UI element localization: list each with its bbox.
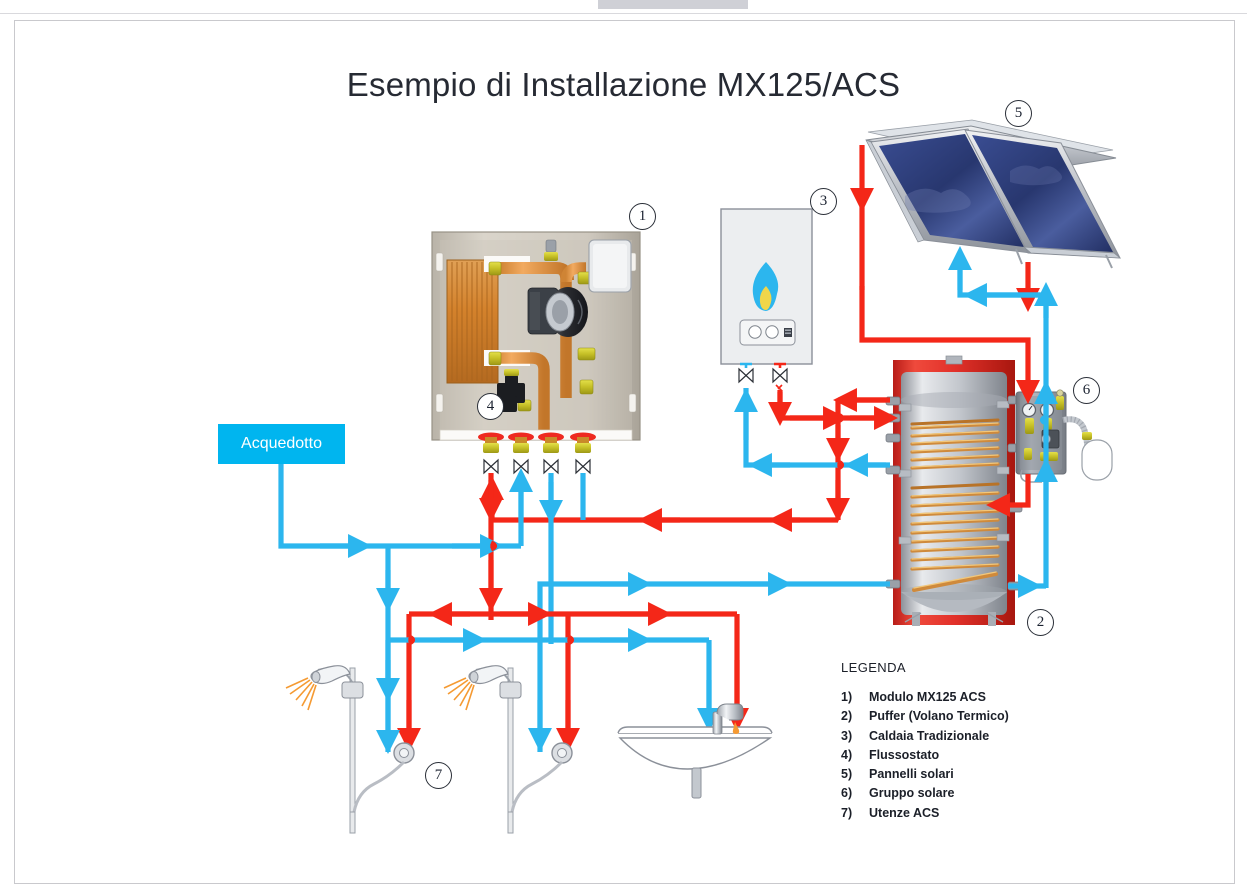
schematic-canvas: .pr{stroke:#f42718;stroke-width:5.2;fill… xyxy=(0,0,1247,890)
shower-left-fixture xyxy=(286,666,414,833)
marker-1: 1 xyxy=(629,203,656,230)
port-valve-4 xyxy=(570,433,596,474)
port-valve-1 xyxy=(478,433,504,474)
mx125-module-component xyxy=(432,232,640,440)
marker-3-text: 3 xyxy=(820,193,828,210)
gas-boiler-component xyxy=(721,209,812,364)
marker-6: 6 xyxy=(1073,377,1100,404)
boiler-cold-valve xyxy=(739,364,753,382)
shower-right-fixture xyxy=(444,666,572,833)
pipe-tank-top-in xyxy=(838,400,890,418)
marker-3: 3 xyxy=(810,188,837,215)
boiler-hot-valve xyxy=(773,364,787,391)
marker-6-text: 6 xyxy=(1083,382,1091,399)
marker-5-text: 5 xyxy=(1015,105,1023,122)
marker-7-text: 7 xyxy=(435,767,443,784)
pipe-crossing-hops xyxy=(409,415,842,643)
marker-4: 4 xyxy=(477,393,504,420)
port-valve-2 xyxy=(508,433,534,474)
marker-2: 2 xyxy=(1027,609,1054,636)
marker-4-text: 4 xyxy=(487,398,495,415)
aqueduct-supply-pipes xyxy=(281,464,521,700)
pipe-aqueduct-main xyxy=(281,464,521,546)
washbasin-fixture xyxy=(618,704,772,798)
puffer-tank-component xyxy=(886,356,1022,626)
marker-7: 7 xyxy=(425,762,452,789)
port-valve-3 xyxy=(538,433,564,474)
marker-2-text: 2 xyxy=(1037,614,1045,631)
solar-panels-component xyxy=(866,120,1120,268)
pipe-boiler-flow xyxy=(780,390,838,418)
water-spray xyxy=(444,678,474,710)
diagram-page: Esempio di Installazione MX125/ACS Acque… xyxy=(0,0,1247,890)
water-spray xyxy=(286,678,316,710)
marker-1-text: 1 xyxy=(639,208,647,225)
marker-5: 5 xyxy=(1005,100,1032,127)
solar-group-component xyxy=(1016,390,1112,482)
